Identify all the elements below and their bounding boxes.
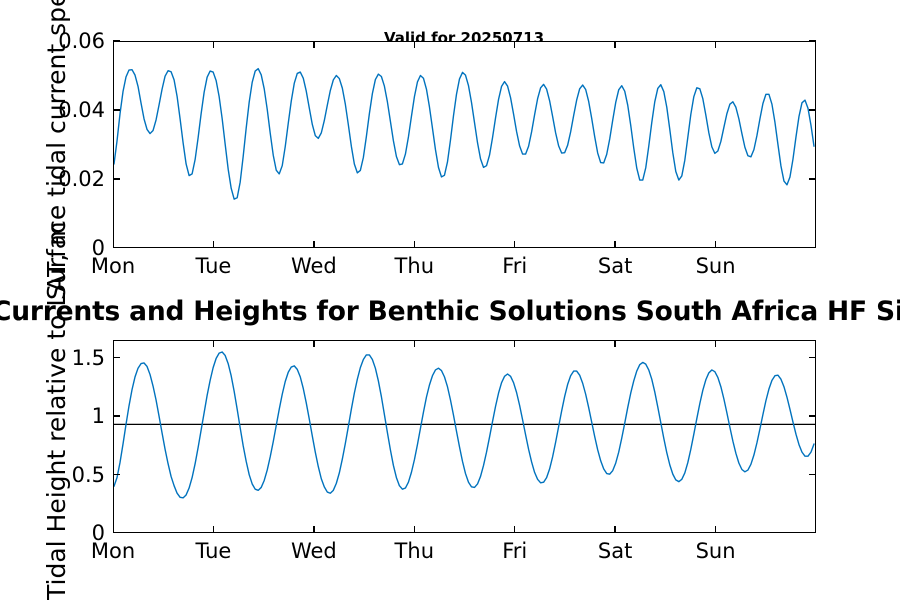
ytick-mark-0.02 <box>113 178 120 179</box>
xtick-mark-sat <box>614 526 615 533</box>
xtick-mark-wed <box>313 241 314 248</box>
xtick-label-wed: Wed <box>291 254 337 278</box>
xtick-mark-top-sat <box>614 41 615 48</box>
xtick-label-wed: Wed <box>291 539 337 563</box>
top-subplot-axes <box>113 41 816 248</box>
top-subplot-plot-area <box>114 42 815 247</box>
xtick-mark-fri <box>514 526 515 533</box>
xtick-mark-top-sun <box>715 340 716 347</box>
ytick-mark-1.5 <box>113 357 120 358</box>
xtick-mark-sun <box>715 241 716 248</box>
xtick-mark-fri <box>514 241 515 248</box>
xtick-mark-top-wed <box>313 41 314 48</box>
ytick-label-1: 1 <box>92 404 105 428</box>
ytick-mark-right-0.02 <box>809 178 816 179</box>
xtick-label-fri: Fri <box>502 254 527 278</box>
ytick-mark-right-0.06 <box>809 40 816 41</box>
xtick-mark-top-tue <box>213 41 214 48</box>
xtick-label-tue: Tue <box>195 539 231 563</box>
ytick-mark-right-0.5 <box>809 474 816 475</box>
xtick-mark-top-thu <box>414 41 415 48</box>
surface-current-speed-line <box>114 69 814 200</box>
xtick-mark-top-wed <box>313 340 314 347</box>
xtick-mark-thu <box>414 241 415 248</box>
xtick-label-thu: Thu <box>395 539 434 563</box>
bottom-subplot-plot-area <box>114 341 815 532</box>
ytick-label-1.5: 1.5 <box>72 346 105 370</box>
xtick-mark-thu <box>414 526 415 533</box>
ytick-label-0.06: 0.06 <box>58 29 105 53</box>
ytick-mark-right-1 <box>809 415 816 416</box>
xtick-mark-top-fri <box>514 340 515 347</box>
ytick-label-0: 0 <box>92 521 105 545</box>
xtick-mark-sun <box>715 526 716 533</box>
xtick-label-tue: Tue <box>195 254 231 278</box>
xtick-mark-tue <box>213 526 214 533</box>
xtick-mark-top-fri <box>514 41 515 48</box>
ytick-mark-right-1.5 <box>809 357 816 358</box>
ytick-mark-0.06 <box>113 40 120 41</box>
xtick-label-thu: Thu <box>395 254 434 278</box>
ytick-label-0: 0 <box>92 236 105 260</box>
ytick-mark-0.5 <box>113 474 120 475</box>
ytick-label-0.04: 0.04 <box>58 98 105 122</box>
xtick-mark-top-tue <box>213 340 214 347</box>
bottom-subplot-ylabel: Tidal Height relative to LAT, m <box>42 221 71 600</box>
ytick-mark-0.04 <box>113 109 120 110</box>
bottom-subplot-axes <box>113 340 816 533</box>
tidal-forecast-figure: Currents and Heights for Benthic Solutio… <box>0 0 900 600</box>
xtick-mark-top-sat <box>614 340 615 347</box>
ytick-label-0.5: 0.5 <box>72 463 105 487</box>
xtick-mark-top-sun <box>715 41 716 48</box>
xtick-label-sun: Sun <box>696 254 736 278</box>
xtick-mark-wed <box>313 526 314 533</box>
xtick-mark-sat <box>614 241 615 248</box>
ytick-label-0.02: 0.02 <box>58 167 105 191</box>
figure-main-title: Currents and Heights for Benthic Solutio… <box>0 296 900 327</box>
xtick-mark-tue <box>213 241 214 248</box>
xtick-label-sat: Sat <box>598 254 632 278</box>
xtick-label-fri: Fri <box>502 539 527 563</box>
xtick-label-sun: Sun <box>696 539 736 563</box>
xtick-mark-top-thu <box>414 340 415 347</box>
xtick-label-sat: Sat <box>598 539 632 563</box>
ytick-mark-right-0.04 <box>809 109 816 110</box>
ytick-mark-1 <box>113 415 120 416</box>
